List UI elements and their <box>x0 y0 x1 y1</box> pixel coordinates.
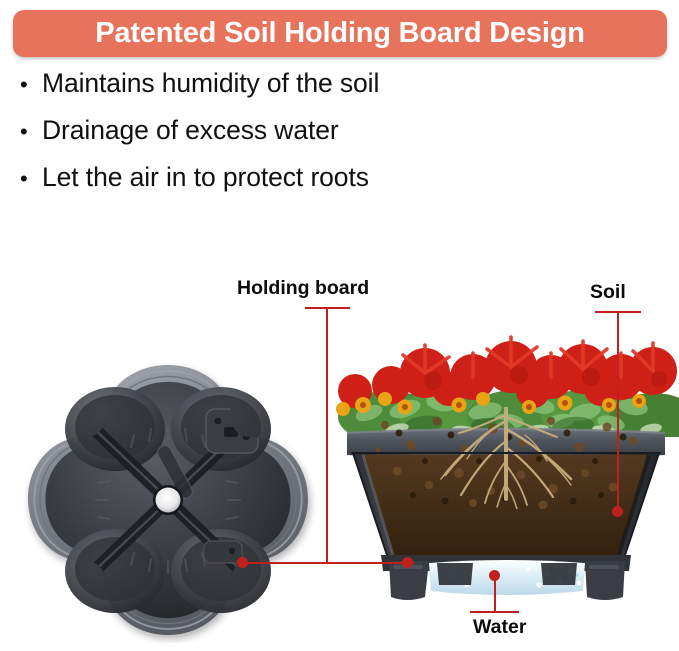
list-item: • Maintains humidity of the soil <box>20 70 640 117</box>
leader-stem-soil <box>617 311 619 511</box>
leader-dot-soil <box>612 506 623 517</box>
list-item: • Let the air in to protect roots <box>20 164 640 211</box>
planter-cross-section-image <box>333 333 679 618</box>
bullet-icon: • <box>20 168 42 190</box>
board-center-hole <box>153 485 183 515</box>
leader-cap-water <box>470 611 519 613</box>
feature-text: Drainage of excess water <box>42 117 339 144</box>
leader-dot-pot-rib <box>402 557 413 568</box>
board-vent-detail <box>204 541 242 563</box>
bullet-icon: • <box>20 121 42 143</box>
page-title: Patented Soil Holding Board Design <box>95 19 584 48</box>
product-diagram: Holding board Soil Water <box>0 255 679 651</box>
soil-holding-board-image <box>18 357 318 643</box>
header-banner: Patented Soil Holding Board Design <box>13 10 667 57</box>
leader-run-holding-board <box>242 562 414 564</box>
feature-list: • Maintains humidity of the soil • Drain… <box>20 70 640 211</box>
callout-label-water: Water <box>473 618 526 638</box>
leader-dot-water <box>489 570 500 581</box>
callout-label-holding-board: Holding board <box>237 279 369 299</box>
list-item: • Drainage of excess water <box>20 117 640 164</box>
bullet-icon: • <box>20 74 42 96</box>
water-reservoir <box>381 555 631 600</box>
feature-text: Let the air in to protect roots <box>42 164 369 191</box>
feature-text: Maintains humidity of the soil <box>42 70 379 97</box>
leader-dot-board <box>237 557 248 568</box>
callout-label-soil: Soil <box>590 283 626 303</box>
leader-stem-holding-board <box>326 307 328 563</box>
